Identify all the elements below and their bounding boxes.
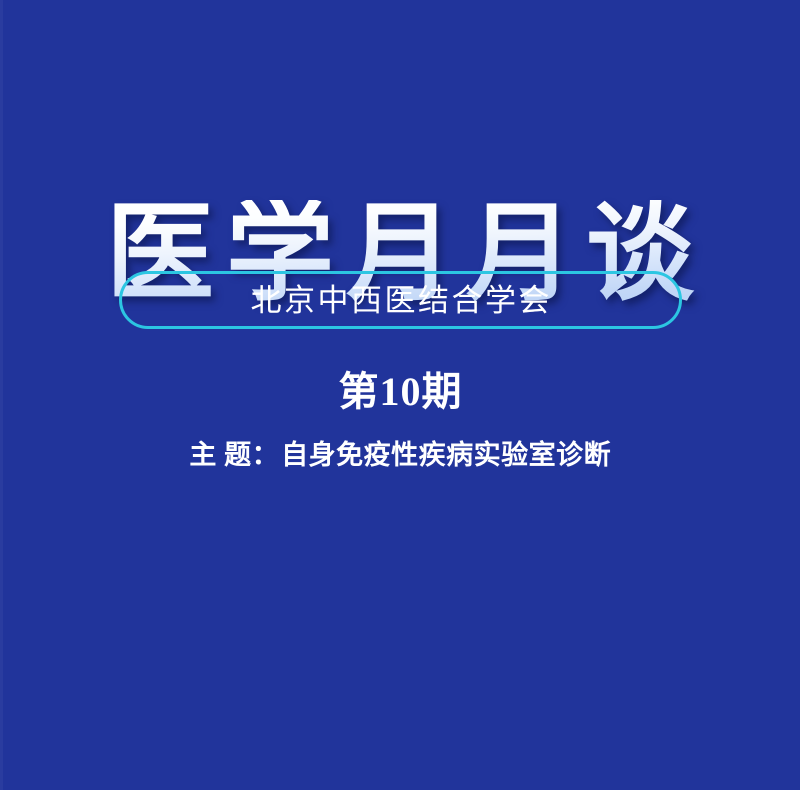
topic-wrap: 主 题：自身免疫性疾病实验室诊断	[0, 441, 800, 471]
issue-wrap: 第10期	[0, 371, 800, 413]
topic-value: 自身免疫性疾病实验室诊断	[281, 440, 611, 470]
topic-line: 主 题：自身免疫性疾病实验室诊断	[189, 441, 611, 471]
organization-pill-wrap: 北京中西医结合学会	[0, 271, 800, 329]
title-block: 医学月月谈	[0, 128, 800, 383]
poster-canvas: 医学月月谈 北京中西医结合学会 第10期 主 题：自身免疫性疾病实验室诊断	[0, 0, 800, 790]
issue-number: 第10期	[338, 371, 463, 413]
organization-label: 北京中西医结合学会	[248, 285, 552, 316]
topic-label: 主 题：	[189, 440, 279, 470]
organization-badge: 北京中西医结合学会	[119, 271, 682, 329]
